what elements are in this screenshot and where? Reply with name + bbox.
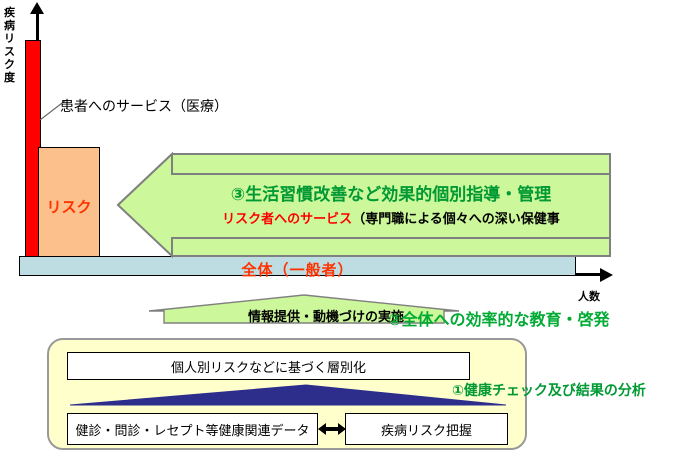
arrow-item2-inner-text: 情報提供・動機づけの実施 [248,306,404,325]
disease-risk-box: 疾病リスク把握 [345,413,508,445]
x-axis-label: 人数 [578,288,600,304]
arrow-item3-subline: リスク者へのサービス（専門職による個々への深い保健事 [176,208,606,227]
arrow-item3-subline-red: リスク者へのサービス [222,212,352,227]
arrow-item3: ③生活習慣改善など効果的個別指導・管理 リスク者へのサービス（専門職による個々へ… [116,152,612,260]
navy-triangle-icon [68,383,508,407]
x-axis-arrowhead-icon [600,268,613,282]
patient-service-callout: 患者へのサービス（医療） [60,96,228,116]
arrow-item3-headline: ③生活習慣改善など効果的個別指導・管理 [176,180,606,205]
y-axis-arrowhead-icon [30,2,44,14]
risk-box-label: リスク [39,196,99,217]
double-arrow-icon [318,420,346,438]
health-data-box: 健診・問診・レセプト等健康関連データ [67,413,318,445]
y-axis-label: 疾病リスク度 [2,6,17,84]
risk-box: リスク [38,147,100,258]
arrow-item3-shape-icon [116,152,612,260]
arrow-item3-subline-black: （専門職による個々への深い保健事 [352,212,560,227]
stratification-box: 個人別リスクなどに基づく層別化 [67,352,470,380]
item2-label: ②全体への効率的な教育・啓発 [388,306,610,330]
population-bar-label: 全体（一般者） [20,259,575,280]
item1-label: ①健康チェック及び結果の分析 [452,380,646,400]
diagram-canvas: 疾病リスク度 人数 患者へのサービス（医療） リスク 全体（一般者） ③生活習慣… [0,0,673,461]
